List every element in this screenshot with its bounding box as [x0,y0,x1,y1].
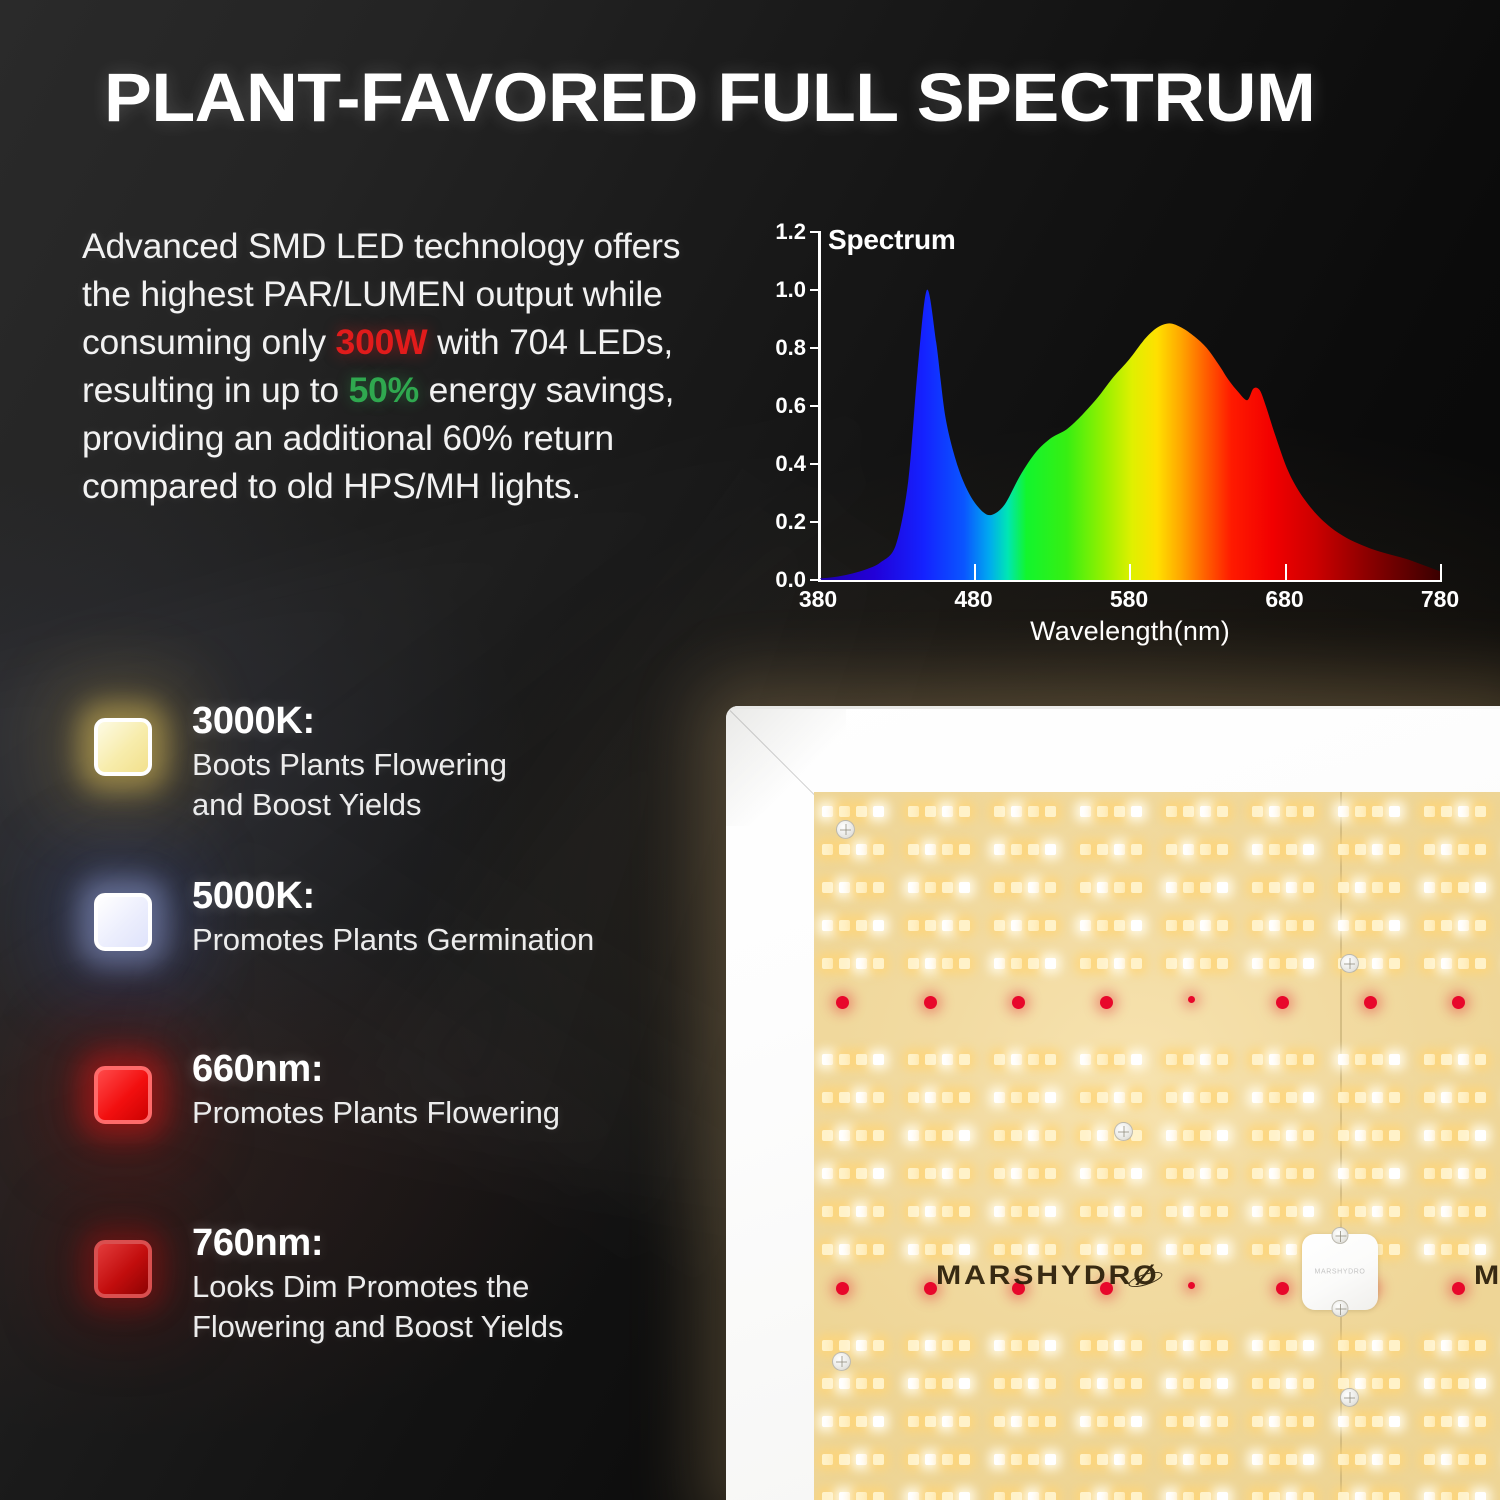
y-axis-tick-label: 0.8 [760,335,806,361]
led-spec-text: 5000K: Promotes Plants Germination [192,875,712,960]
led-spec-row-3000k: 3000K: Boots Plants Floweringand Boost Y… [74,700,714,830]
brand-logo-text: MARSHYDR [936,1260,1133,1290]
led-spec-row-5000k: 5000K: Promotes Plants Germination [74,875,714,1005]
led-spec-text: 660nm: Promotes Plants Flowering [192,1048,712,1133]
board-screw-icon [836,820,855,839]
led-spec-row-760nm: 760nm: Looks Dim Promotes theFlowering a… [74,1222,714,1352]
board-screw-icon [1340,1388,1359,1407]
y-axis-labels: 0.00.20.40.60.81.01.2 [762,212,806,602]
y-axis-tick [810,579,821,581]
led-spec-title: 660nm: [192,1048,712,1091]
led-chip-760nm-icon [94,1240,152,1298]
y-axis-tick-label: 0.2 [760,509,806,535]
brand-logo-primary: MARSHYDRØ [936,1260,1159,1291]
y-axis-tick-label: 0.6 [760,393,806,419]
led-spec-description: Looks Dim Promotes theFlowering and Boos… [192,1267,712,1347]
led-spec-description: Promotes Plants Germination [192,920,712,960]
led-spec-title: 5000K: [192,875,712,918]
power-highlight: 300W [336,322,428,362]
board-screw-icon [1340,954,1359,973]
connector-label: MARSHYDRO [1302,1269,1378,1276]
led-spec-title: 760nm: [192,1222,712,1265]
spectrum-chart: Spectrum 0.00.20.40.60.81.01.2 [762,212,1462,642]
x-axis-tick [1285,564,1287,582]
page-title: PLANT-FAVORED FULL SPECTRUM [104,62,1487,134]
led-spec-title: 3000K: [192,700,712,743]
board-screw-icon [1114,1122,1133,1141]
led-chip-3000k-icon [94,718,152,776]
x-axis-tick-label: 480 [954,586,992,613]
brand-planet-ring-icon: Ø [1133,1260,1159,1291]
led-spec-description: Promotes Plants Flowering [192,1093,712,1133]
connector-screw-top-icon [1332,1227,1349,1244]
y-axis-tick [810,405,821,407]
x-axis-tick [1440,564,1442,582]
y-axis-tick-label: 1.2 [760,219,806,245]
y-axis-tick [810,231,821,233]
x-axis-label: Wavelength(nm) [818,616,1442,647]
board-screw-icon [832,1352,851,1371]
panel-connector-module: MARSHYDRO [1302,1234,1378,1310]
y-axis-tick [810,347,821,349]
infographic-page: PLANT-FAVORED FULL SPECTRUM Advanced SMD… [0,0,1500,1500]
chart-plot-area [818,232,1440,580]
led-chip-5000k-icon [94,893,152,951]
y-axis-tick [810,521,821,523]
y-axis-tick [810,463,821,465]
led-board-surface: MARSHYDRØ MA MARSHYDRO [814,792,1500,1500]
savings-highlight: 50% [349,370,419,410]
led-grow-light-panel: MARSHYDRØ MA MARSHYDRO [726,706,1500,1500]
description-paragraph: Advanced SMD LED technology offers the h… [82,222,722,510]
x-axis-tick [1129,564,1131,582]
x-axis-tick-label: 780 [1421,586,1459,613]
led-chip-660nm-icon [94,1066,152,1124]
x-axis-tick-label: 680 [1265,586,1303,613]
x-axis-tick-label: 380 [799,586,837,613]
led-spec-description: Boots Plants Floweringand Boost Yields [192,745,712,825]
led-spec-text: 760nm: Looks Dim Promotes theFlowering a… [192,1222,712,1347]
connector-screw-bottom-icon [1332,1300,1349,1317]
board-screws [814,792,1500,1500]
led-spec-text: 3000K: Boots Plants Floweringand Boost Y… [192,700,712,825]
y-axis-tick-label: 0.4 [760,451,806,477]
brand-logo-secondary: MA [1474,1260,1500,1291]
x-axis-tick [974,564,976,582]
y-axis-tick [810,289,821,291]
x-axis-tick-label: 580 [1110,586,1148,613]
led-spec-row-660nm: 660nm: Promotes Plants Flowering [74,1048,714,1178]
y-axis-tick-label: 1.0 [760,277,806,303]
spectrum-curve-svg [818,232,1440,580]
